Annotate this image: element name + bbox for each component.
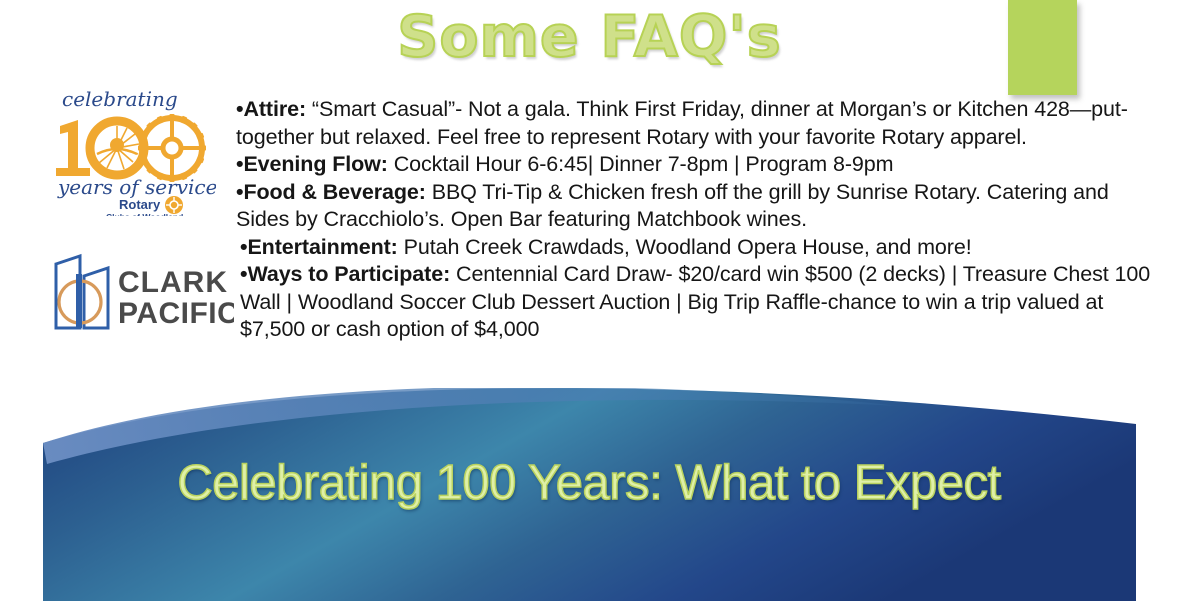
faq-bullet-attire: •Attire: “Smart Casual”- Not a gala. Thi… [236,96,1156,151]
bullet-lead: Attire: [243,97,306,121]
rotary-club-subtitle: Clubs of Woodland [106,212,183,216]
rotary-celebrating-text: celebrating [62,87,178,111]
slide-canvas: Some FAQ's celebrating [0,0,1179,601]
faq-body: •Attire: “Smart Casual”- Not a gala. Thi… [236,96,1156,344]
bullet-lead: Entertainment: [247,235,397,259]
rotary-wordmark: Rotary [119,197,161,212]
bullet-lead: Ways to Participate: [247,262,450,286]
rotary-sunburst-zero [90,121,144,175]
banner-heading: Celebrating 100 Years: What to Expect [43,455,1135,511]
clark-pacific-line2: PACIFIC [118,297,234,330]
clark-pacific-building-mark [56,256,108,328]
rotary-numeral-one [56,120,90,176]
bullet-lead: Evening Flow: [243,152,387,176]
bullet-body: Cocktail Hour 6-6:45| Dinner 7-8pm | Pro… [388,152,894,176]
page-title: Some FAQ's [0,8,1179,68]
faq-bullet-ways-to-participate: •Ways to Participate: Centennial Card Dr… [236,261,1156,344]
faq-bullet-entertainment: •Entertainment: Putah Creek Crawdads, Wo… [236,234,1156,262]
clark-pacific-line1: CLARK [118,266,228,299]
bullet-body: “Smart Casual”- Not a gala. Think First … [236,97,1128,149]
clark-pacific-logo: CLARK PACIFIC [46,252,234,334]
bullet-body: Putah Creek Crawdads, Woodland Opera Hou… [398,235,972,259]
faq-bullet-evening-flow: •Evening Flow: Cocktail Hour 6-6:45| Din… [236,151,1156,179]
rotary-centennial-logo: celebrating [44,82,216,216]
rotary-gear-wheel [138,114,206,182]
rotary-years-of-service-text: years of service [57,175,216,199]
faq-bullet-food-beverage: •Food & Beverage: BBQ Tri-Tip & Chicken … [236,179,1156,234]
bullet-lead: Food & Beverage: [243,180,425,204]
